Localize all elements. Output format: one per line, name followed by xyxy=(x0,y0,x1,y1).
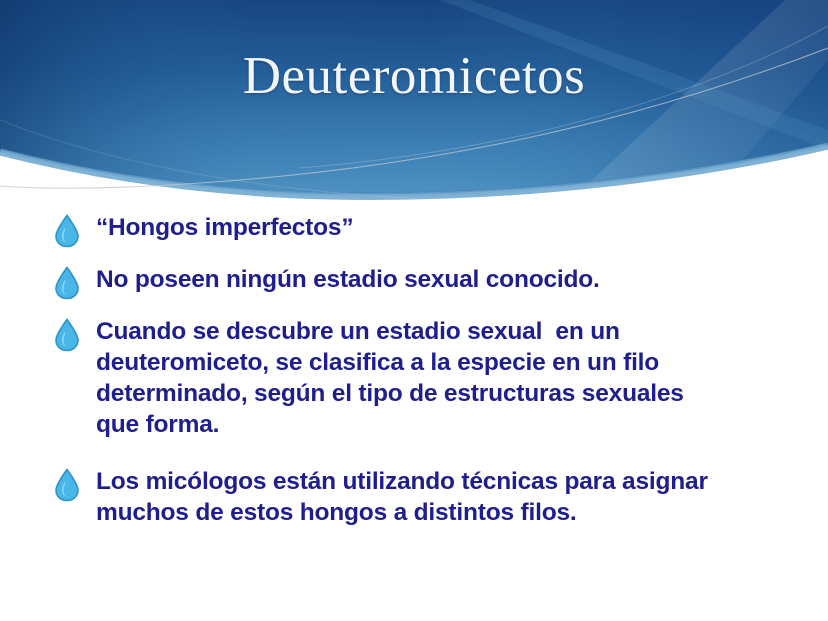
list-item: No poseen ningún estadio sexual conocido… xyxy=(52,264,792,300)
list-item: “Hongos imperfectos” xyxy=(52,212,792,248)
slide-header-banner: Deuteromicetos xyxy=(0,0,828,210)
list-item-label: No poseen ningún estadio sexual conocido… xyxy=(96,264,736,295)
list-item: Los micólogos están utilizando técnicas … xyxy=(52,466,792,528)
water-drop-icon xyxy=(52,318,82,352)
slide-title: Deuteromicetos xyxy=(0,44,828,108)
water-drop-icon xyxy=(52,468,82,502)
slide-body-bullet-list: “Hongos imperfectos” No poseen ningún es… xyxy=(52,212,792,546)
list-item-label: Los micólogos están utilizando técnicas … xyxy=(96,466,718,528)
water-drop-icon xyxy=(52,266,82,300)
water-drop-icon xyxy=(52,214,82,248)
list-item-label: “Hongos imperfectos” xyxy=(96,212,736,243)
list-item-label: Cuando se descubre un estadio sexual en … xyxy=(96,316,718,440)
presentation-slide: Deuteromicetos “Hongos imperfectos” No p… xyxy=(0,0,828,621)
list-item: Cuando se descubre un estadio sexual en … xyxy=(52,316,792,440)
